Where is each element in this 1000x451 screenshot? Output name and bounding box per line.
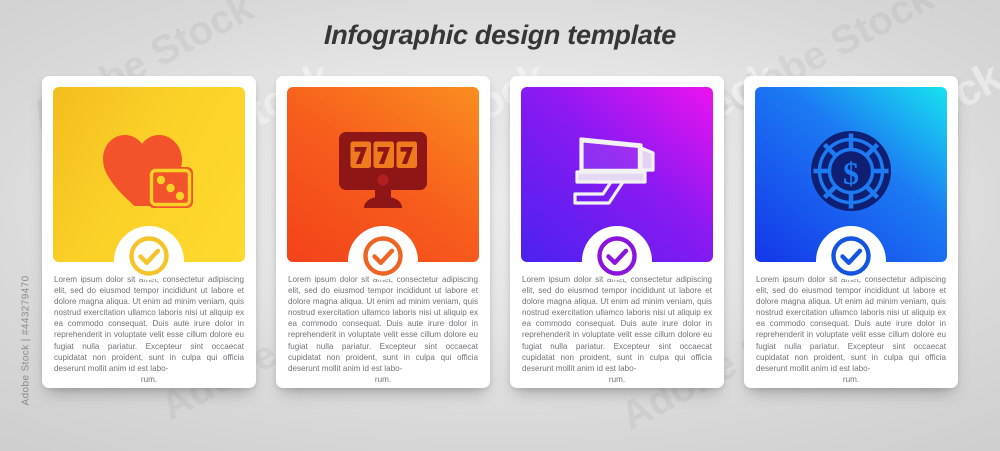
card-1-body-paragraph: Lorem ipsum dolor sit amet, consectetur …	[54, 275, 244, 373]
check-circle-icon	[361, 234, 405, 278]
card-3-body-lastline: rum.	[522, 374, 712, 385]
card-2-body-lastline: rum.	[288, 374, 478, 385]
card-4-body-paragraph: Lorem ipsum dolor sit amet, consectetur …	[756, 275, 946, 373]
infographic-card-2[interactable]: Lorem ipsum dolor sit amet, consectetur …	[276, 76, 490, 388]
heart-and-dice-icon	[101, 132, 197, 210]
check-circle-icon	[595, 234, 639, 278]
page-title: Infographic design template	[0, 20, 1000, 51]
slot-machine-monitor-777-icon	[337, 130, 429, 212]
card-3-body-paragraph: Lorem ipsum dolor sit amet, consectetur …	[522, 275, 712, 373]
card-2-status-badge[interactable]	[359, 232, 407, 280]
check-circle-icon	[127, 234, 171, 278]
card-2-body-text: Lorem ipsum dolor sit amet, consectetur …	[288, 274, 478, 385]
card-1-status-badge[interactable]	[125, 232, 173, 280]
check-circle-icon	[829, 234, 873, 278]
card-3-status-badge[interactable]	[593, 232, 641, 280]
infographic-card-3[interactable]: Lorem ipsum dolor sit amet, consectetur …	[510, 76, 724, 388]
card-3-body-text: Lorem ipsum dolor sit amet, consectetur …	[522, 274, 712, 385]
card-4-body-text: Lorem ipsum dolor sit amet, consectetur …	[756, 274, 946, 385]
svg-text:$: $	[843, 155, 859, 191]
card-2-body-paragraph: Lorem ipsum dolor sit amet, consectetur …	[288, 275, 478, 373]
card-4-status-badge[interactable]	[827, 232, 875, 280]
security-camera-icon	[567, 134, 667, 208]
card-1-body-text: Lorem ipsum dolor sit amet, consectetur …	[54, 274, 244, 385]
infographic-card-4[interactable]: $ Lorem ipsum dolor sit amet, consectetu…	[744, 76, 958, 388]
card-4-body-lastline: rum.	[756, 374, 946, 385]
card-1-body-lastline: rum.	[54, 374, 244, 385]
casino-chip-dollar-icon: $	[809, 129, 893, 213]
infographic-card-1[interactable]: Lorem ipsum dolor sit amet, consectetur …	[42, 76, 256, 388]
card-grid: Lorem ipsum dolor sit amet, consectetur …	[0, 76, 1000, 396]
